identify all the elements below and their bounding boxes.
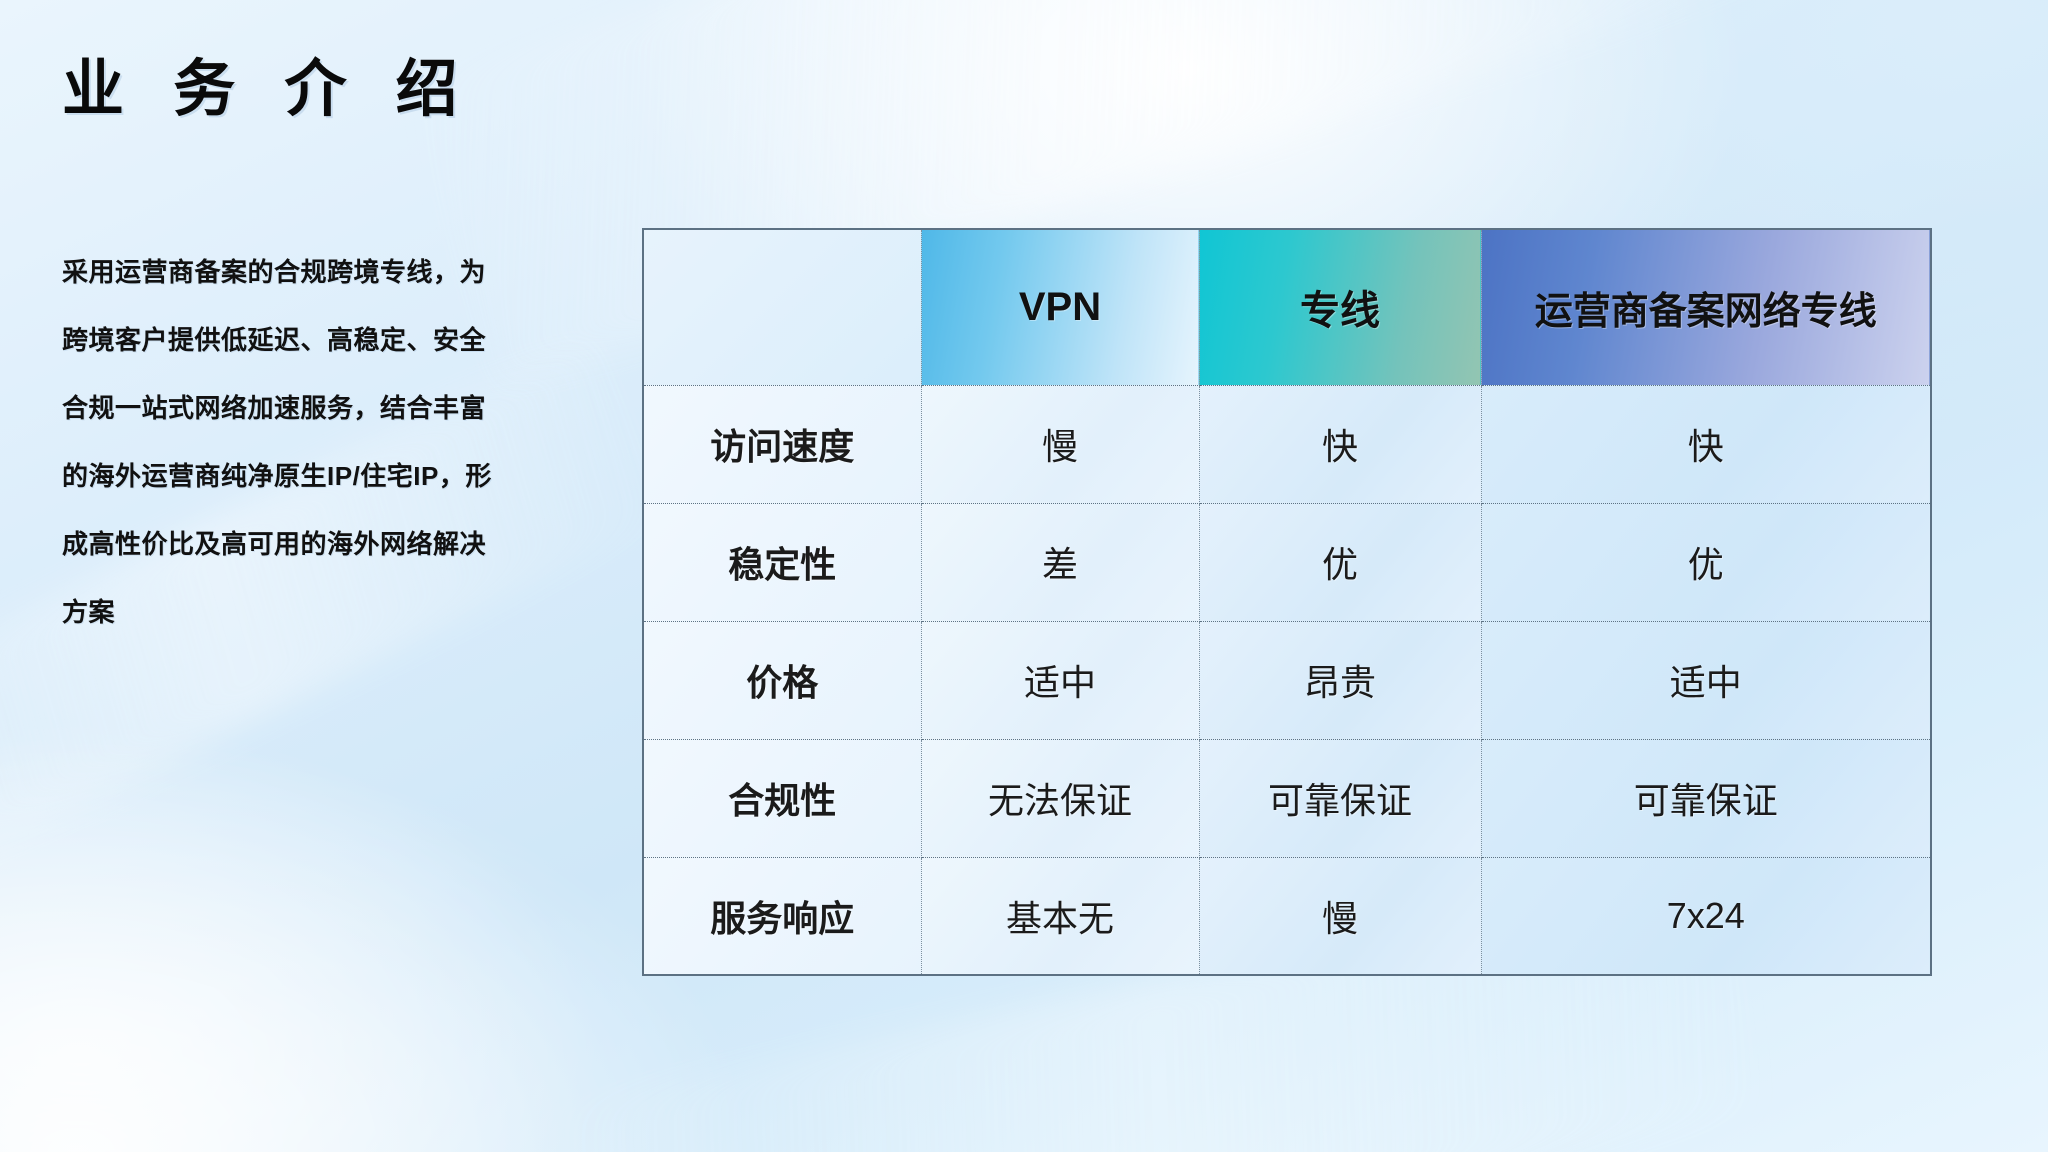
cell-vpn-compliance: 无法保证	[921, 739, 1199, 857]
table-row: 价格 适中 昂贵 适中	[643, 621, 1931, 739]
table-row: 稳定性 差 优 优	[643, 503, 1931, 621]
cell-line-service-response: 慢	[1199, 857, 1481, 975]
table-header-row: VPN 专线 运营商备案网络专线	[643, 229, 1931, 385]
cell-line-stability: 优	[1199, 503, 1481, 621]
cell-vpn-price: 适中	[921, 621, 1199, 739]
cell-line-compliance: 可靠保证	[1199, 739, 1481, 857]
table-header-dedicated-line: 专线	[1199, 229, 1481, 385]
table-body: 访问速度 慢 快 快 稳定性 差 优 优 价格 适中 昂贵 适中 合规性 无法保…	[643, 385, 1931, 975]
table-header: VPN 专线 运营商备案网络专线	[643, 229, 1931, 385]
row-label-compliance: 合规性	[643, 739, 921, 857]
table-header-vpn: VPN	[921, 229, 1199, 385]
table-header-corner	[643, 229, 921, 385]
cell-carrier-price: 适中	[1481, 621, 1931, 739]
cell-line-price: 昂贵	[1199, 621, 1481, 739]
comparison-table: VPN 专线 运营商备案网络专线 访问速度 慢 快 快 稳定性 差 优 优 价格…	[642, 228, 1932, 976]
cell-vpn-access-speed: 慢	[921, 385, 1199, 503]
table-row: 服务响应 基本无 慢 7x24	[643, 857, 1931, 975]
cell-carrier-service-response: 7x24	[1481, 857, 1931, 975]
row-label-service-response: 服务响应	[643, 857, 921, 975]
page-title: 业 务 介 绍	[62, 56, 474, 124]
row-label-stability: 稳定性	[643, 503, 921, 621]
row-label-access-speed: 访问速度	[643, 385, 921, 503]
cell-line-access-speed: 快	[1199, 385, 1481, 503]
cell-vpn-service-response: 基本无	[921, 857, 1199, 975]
table-row: 访问速度 慢 快 快	[643, 385, 1931, 503]
cell-vpn-stability: 差	[921, 503, 1199, 621]
cell-carrier-stability: 优	[1481, 503, 1931, 621]
table-row: 合规性 无法保证 可靠保证 可靠保证	[643, 739, 1931, 857]
cell-carrier-access-speed: 快	[1481, 385, 1931, 503]
cell-carrier-compliance: 可靠保证	[1481, 739, 1931, 857]
slide-canvas: 业 务 介 绍 采用运营商备案的合规跨境专线，为跨境客户提供低延迟、高稳定、安全…	[0, 0, 2048, 1152]
table-header-carrier-registered-line: 运营商备案网络专线	[1481, 229, 1931, 385]
row-label-price: 价格	[643, 621, 921, 739]
intro-paragraph: 采用运营商备案的合规跨境专线，为跨境客户提供低延迟、高稳定、安全合规一站式网络加…	[62, 238, 492, 646]
